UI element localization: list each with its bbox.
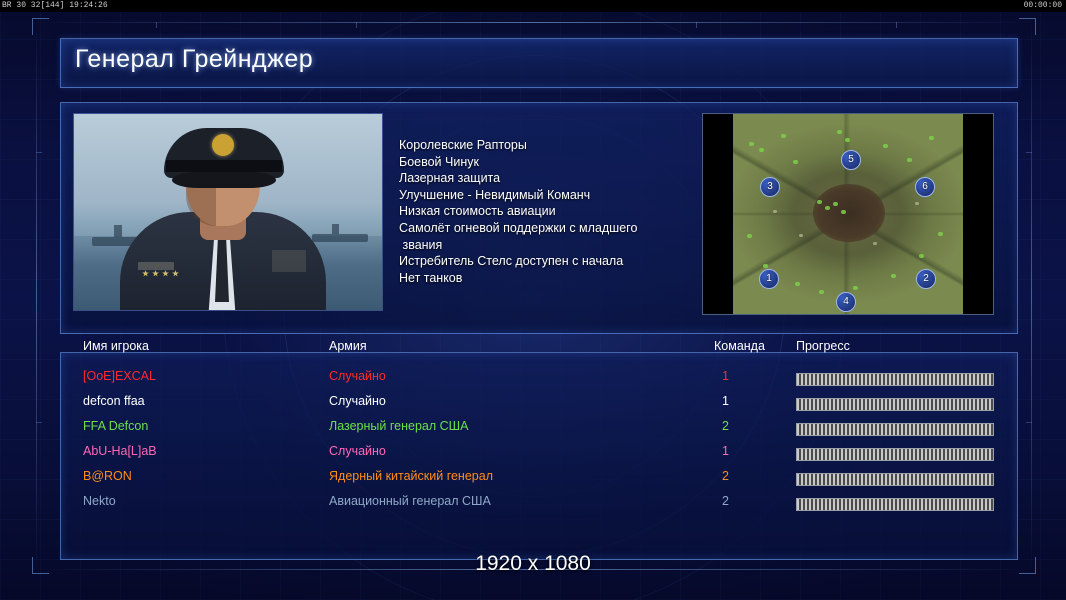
player-name: FFA Defcon	[83, 419, 148, 433]
player-name: defcon ffaa	[83, 394, 145, 408]
player-name: [OoE]EXCAL	[83, 369, 156, 383]
header-player-name: Имя игрока	[83, 339, 149, 353]
player-progress-bar	[796, 473, 994, 486]
player-team: 2	[722, 419, 729, 433]
player-progress-bar	[796, 398, 994, 411]
table-row[interactable]: defcon ffaaСлучайно1	[61, 394, 1017, 419]
player-team: 2	[722, 494, 729, 508]
general-traits-list: Королевские Рапторы Боевой Чинук Лазерна…	[399, 137, 729, 286]
page-title: Генерал Грейнджер	[75, 45, 313, 74]
player-progress-bar	[796, 498, 994, 511]
map-start-position: 3	[760, 177, 780, 197]
player-team: 1	[722, 444, 729, 458]
general-info-panel: Королевские Рапторы Боевой Чинук Лазерна…	[60, 102, 1018, 334]
header-team: Команда	[714, 339, 765, 353]
player-name: AbU-Ha[L]aB	[83, 444, 157, 458]
debug-status-bar: BR 30 32[144] 19:24:26 00:00:00	[0, 0, 1066, 12]
player-progress-bar	[796, 448, 994, 461]
player-name: Nekto	[83, 494, 116, 508]
trait-item: Истребитель Стелс доступен с начала	[399, 253, 729, 270]
resolution-label: 1920 x 1080	[0, 552, 1066, 576]
trait-item: Боевой Чинук	[399, 154, 729, 171]
map-start-position: 1	[759, 269, 779, 289]
trait-item: Нет танков	[399, 270, 729, 287]
map-preview[interactable]: 5 3 6 1 2 4	[702, 113, 994, 315]
player-army: Случайно	[329, 444, 386, 458]
player-list-panel: Имя игрока Армия Команда Прогресс [OoE]E…	[60, 352, 1018, 560]
table-row[interactable]: NektoАвиационный генерал США2	[61, 494, 1017, 519]
map-start-position: 4	[836, 292, 856, 312]
player-progress-bar	[796, 423, 994, 436]
table-row[interactable]: FFA DefconЛазерный генерал США2	[61, 419, 1017, 444]
cap-emblem-icon	[212, 134, 234, 156]
clock-text: 00:00:00	[1024, 0, 1062, 12]
player-army: Авиационный генерал США	[329, 494, 491, 508]
trait-item: Улучшение - Невидимый Команч	[399, 187, 729, 204]
trait-item: звания	[399, 237, 729, 254]
player-army: Случайно	[329, 394, 386, 408]
player-team: 2	[722, 469, 729, 483]
map-start-position: 6	[915, 177, 935, 197]
game-lobby-screen: BR 30 32[144] 19:24:26 00:00:00 Генерал …	[0, 0, 1066, 600]
header-progress: Прогресс	[796, 339, 850, 353]
general-title-panel: Генерал Грейнджер	[60, 38, 1018, 88]
map-start-position: 5	[841, 150, 861, 170]
trait-item: Лазерная защита	[399, 170, 729, 187]
player-army: Ядерный китайский генерал	[329, 469, 493, 483]
trait-item: Низкая стоимость авиации	[399, 203, 729, 220]
general-portrait	[73, 113, 383, 311]
trait-item: Королевские Рапторы	[399, 137, 729, 154]
header-army: Армия	[329, 339, 367, 353]
table-row[interactable]: AbU-Ha[L]aBСлучайно1	[61, 444, 1017, 469]
player-army: Случайно	[329, 369, 386, 383]
player-army: Лазерный генерал США	[329, 419, 468, 433]
table-row[interactable]: B@RONЯдерный китайский генерал2	[61, 469, 1017, 494]
table-row[interactable]: [OoE]EXCALСлучайно1	[61, 369, 1017, 394]
general-figure	[120, 120, 326, 310]
player-team: 1	[722, 394, 729, 408]
trait-item: Самолёт огневой поддержки с младшего	[399, 220, 729, 237]
player-name: B@RON	[83, 469, 132, 483]
debug-stats-text: BR 30 32[144] 19:24:26	[2, 0, 108, 12]
player-progress-bar	[796, 373, 994, 386]
player-team: 1	[722, 369, 729, 383]
player-list-header: Имя игрока Армия Команда Прогресс	[61, 339, 1017, 357]
map-start-position: 2	[916, 269, 936, 289]
